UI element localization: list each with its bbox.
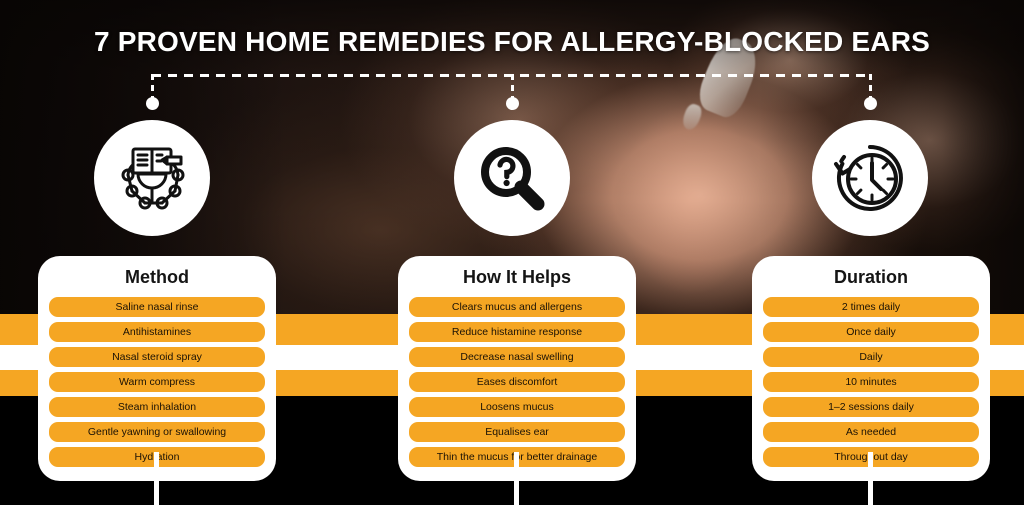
card-method: Method Saline nasal rinse Antihistamines… (38, 256, 276, 481)
list-item[interactable]: Gentle yawning or swallowing (49, 422, 265, 442)
list-item[interactable]: Eases discomfort (409, 372, 625, 392)
card-stem-2 (514, 452, 519, 505)
card-how-it-helps: How It Helps Clears mucus and allergens … (398, 256, 636, 481)
clock-recurring-icon (833, 141, 907, 215)
list-item[interactable]: Decrease nasal swelling (409, 347, 625, 367)
list-item[interactable]: As needed (763, 422, 979, 442)
list-item[interactable]: Steam inhalation (49, 397, 265, 417)
icon-circle-method (94, 120, 210, 236)
card-title-method: Method (49, 267, 265, 288)
connector-dot-3 (864, 97, 877, 110)
card-stem-1 (154, 452, 159, 505)
list-item[interactable]: Antihistamines (49, 322, 265, 342)
list-item[interactable]: Nasal steroid spray (49, 347, 265, 367)
connector-dot-2 (506, 97, 519, 110)
list-item[interactable]: Reduce histamine response (409, 322, 625, 342)
list-item[interactable]: 10 minutes (763, 372, 979, 392)
list-item[interactable]: Saline nasal rinse (49, 297, 265, 317)
list-item[interactable]: Loosens mucus (409, 397, 625, 417)
list-item[interactable]: Equalises ear (409, 422, 625, 442)
list-item[interactable]: Clears mucus and allergens (409, 297, 625, 317)
icon-circle-duration (812, 120, 928, 236)
page-title: 7 PROVEN HOME REMEDIES FOR ALLERGY-BLOCK… (0, 26, 1024, 58)
list-item[interactable]: Warm compress (49, 372, 265, 392)
card-duration: Duration 2 times daily Once daily Daily … (752, 256, 990, 481)
list-item[interactable]: 1–2 sessions daily (763, 397, 979, 417)
list-item[interactable]: Daily (763, 347, 979, 367)
card-title-duration: Duration (763, 267, 979, 288)
research-method-icon (115, 141, 189, 215)
list-item[interactable]: Once daily (763, 322, 979, 342)
icon-circle-how-it-helps (454, 120, 570, 236)
connector-dot-1 (146, 97, 159, 110)
card-stem-3 (868, 452, 873, 505)
magnifier-question-icon (476, 142, 548, 214)
infographic-root: 7 PROVEN HOME REMEDIES FOR ALLERGY-BLOCK… (0, 0, 1024, 505)
card-title-how-it-helps: How It Helps (409, 267, 625, 288)
list-item[interactable]: 2 times daily (763, 297, 979, 317)
